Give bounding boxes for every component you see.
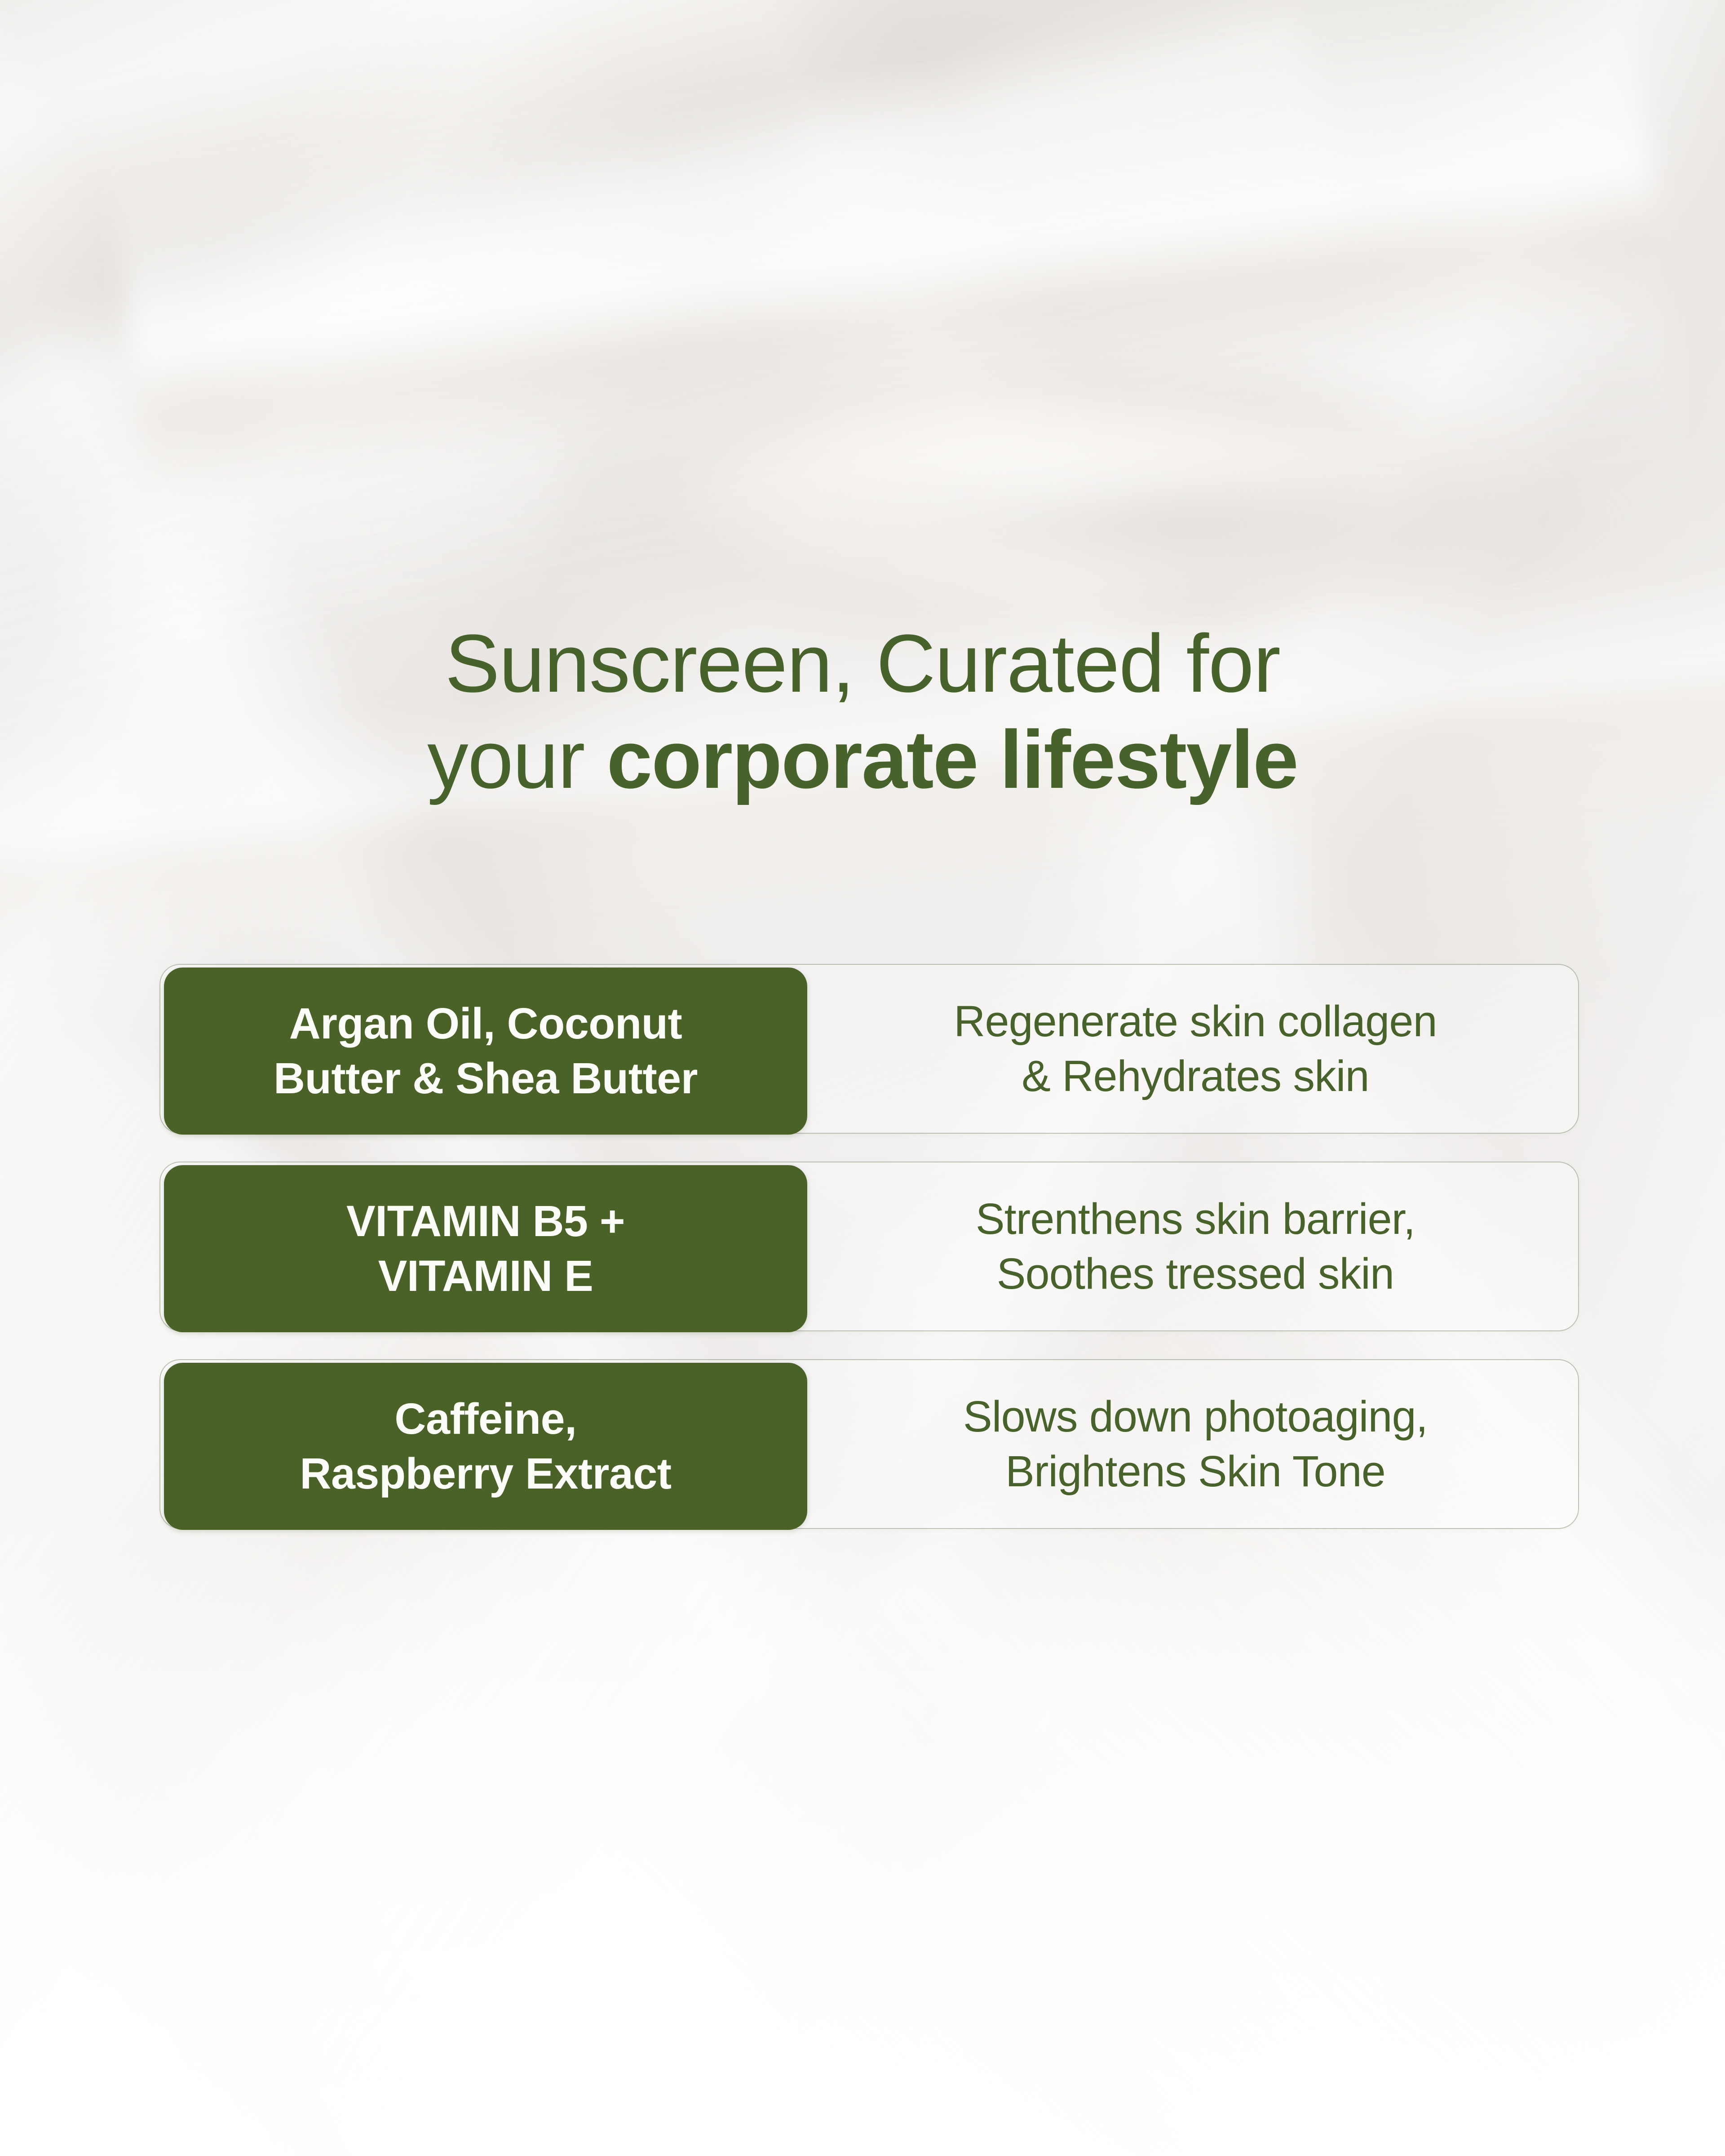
feature-list: Argan Oil, Coconut Butter & Shea Butter … bbox=[159, 964, 1579, 1529]
sunscreen-feature-poster: Sunscreen, Curated for your corporate li… bbox=[0, 0, 1725, 2156]
poster-content: Sunscreen, Curated for your corporate li… bbox=[0, 0, 1725, 2156]
feature-row: Caffeine, Raspberry Extract Slows down p… bbox=[159, 1359, 1579, 1529]
ingredient-pill: VITAMIN B5 + VITAMIN E bbox=[164, 1165, 807, 1332]
feature-row: Argan Oil, Coconut Butter & Shea Butter … bbox=[159, 964, 1579, 1134]
benefit-container: Strenthens skin barrier, Soothes tressed… bbox=[812, 1162, 1579, 1331]
ingredient-pill: Caffeine, Raspberry Extract bbox=[164, 1363, 807, 1530]
benefit-container: Regenerate skin collagen & Rehydrates sk… bbox=[812, 964, 1579, 1134]
ingredient-pill: Argan Oil, Coconut Butter & Shea Butter bbox=[164, 968, 807, 1135]
feature-row: VITAMIN B5 + VITAMIN E Strenthens skin b… bbox=[159, 1162, 1579, 1331]
ingredient-label: Caffeine, Raspberry Extract bbox=[282, 1392, 689, 1501]
headline-line-2-regular: your bbox=[427, 713, 606, 805]
benefit-label: Regenerate skin collagen & Rehydrates sk… bbox=[936, 994, 1455, 1104]
headline-line-2: your corporate lifestyle bbox=[0, 711, 1725, 808]
benefit-label: Strenthens skin barrier, Soothes tressed… bbox=[958, 1192, 1433, 1301]
headline-line-2-bold: corporate lifestyle bbox=[606, 713, 1297, 805]
headline-line-1: Sunscreen, Curated for bbox=[0, 615, 1725, 711]
page-title: Sunscreen, Curated for your corporate li… bbox=[0, 615, 1725, 808]
ingredient-label: Argan Oil, Coconut Butter & Shea Butter bbox=[256, 996, 716, 1106]
ingredient-label: VITAMIN B5 + VITAMIN E bbox=[328, 1194, 643, 1303]
benefit-container: Slows down photoaging, Brightens Skin To… bbox=[812, 1359, 1579, 1529]
benefit-label: Slows down photoaging, Brightens Skin To… bbox=[945, 1389, 1446, 1499]
